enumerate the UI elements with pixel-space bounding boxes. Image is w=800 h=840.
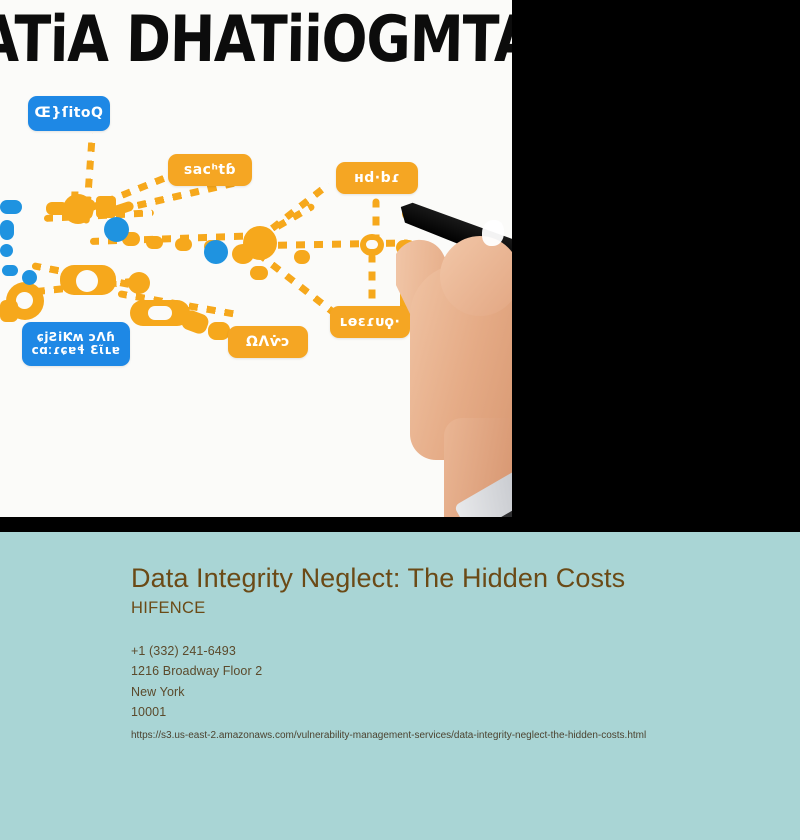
diagram-node	[128, 272, 150, 294]
whiteboard-illustration: ATiA DHATiiOGMTA	[0, 0, 512, 517]
diagram-node-highlight	[2, 265, 18, 276]
diagram-node	[250, 266, 268, 280]
knuckles-shape	[440, 236, 512, 316]
diagram-node-highlight	[0, 220, 14, 240]
contact-city: New York	[131, 682, 771, 702]
diagram-label-top-left[interactable]: Œ}ſitoQ	[28, 96, 110, 131]
diagram-node	[63, 194, 93, 224]
diagram-connector	[260, 239, 410, 249]
hero-image-region: ATiA DHATiiOGMTA	[0, 0, 800, 532]
source-url-link[interactable]: https://s3.us-east-2.amazonaws.com/vulne…	[131, 729, 771, 742]
diagram-node	[232, 244, 254, 264]
diagram-node-highlight	[0, 244, 13, 257]
diagram-node	[294, 250, 310, 264]
article-info-panel: Data Integrity Neglect: The Hidden Costs…	[0, 532, 800, 840]
hand-holding-stylus-icon	[396, 186, 512, 517]
finger-highlight	[482, 220, 504, 246]
diagram-node	[0, 300, 18, 322]
contact-zip: 10001	[131, 702, 771, 722]
diagram-node-highlight	[104, 217, 129, 242]
contact-street: 1216 Broadway Floor 2	[131, 661, 771, 681]
page-title: Data Integrity Neglect: The Hidden Costs	[131, 562, 771, 596]
contact-phone[interactable]: +1 (332) 241-6493	[131, 641, 771, 661]
diagram-node	[146, 236, 163, 249]
diagram-label-bottom-left[interactable]: ɕjƧiƘʍ ɔΛɦ cɑːɾɕɐɬ Ɛɩ̃ʟɐ	[22, 322, 130, 366]
diagram-node-inner	[366, 240, 378, 249]
diagram-node-highlight	[0, 200, 22, 214]
article-info-content: Data Integrity Neglect: The Hidden Costs…	[131, 562, 771, 742]
diagram-node-inner	[148, 306, 172, 320]
diagram-node	[208, 322, 230, 340]
diagram-node-highlight	[204, 240, 228, 264]
diagram-node-inner	[16, 292, 33, 309]
diagram-node-highlight	[22, 270, 37, 285]
company-name: HIFENCE	[131, 598, 771, 619]
diagram-label-sachs[interactable]: sacʰtɓ	[168, 154, 252, 186]
diagram-label-oav[interactable]: ΩΛⱱ̇ɔ	[228, 326, 308, 358]
diagram-node-inner	[76, 270, 98, 292]
diagram-node	[175, 238, 192, 251]
